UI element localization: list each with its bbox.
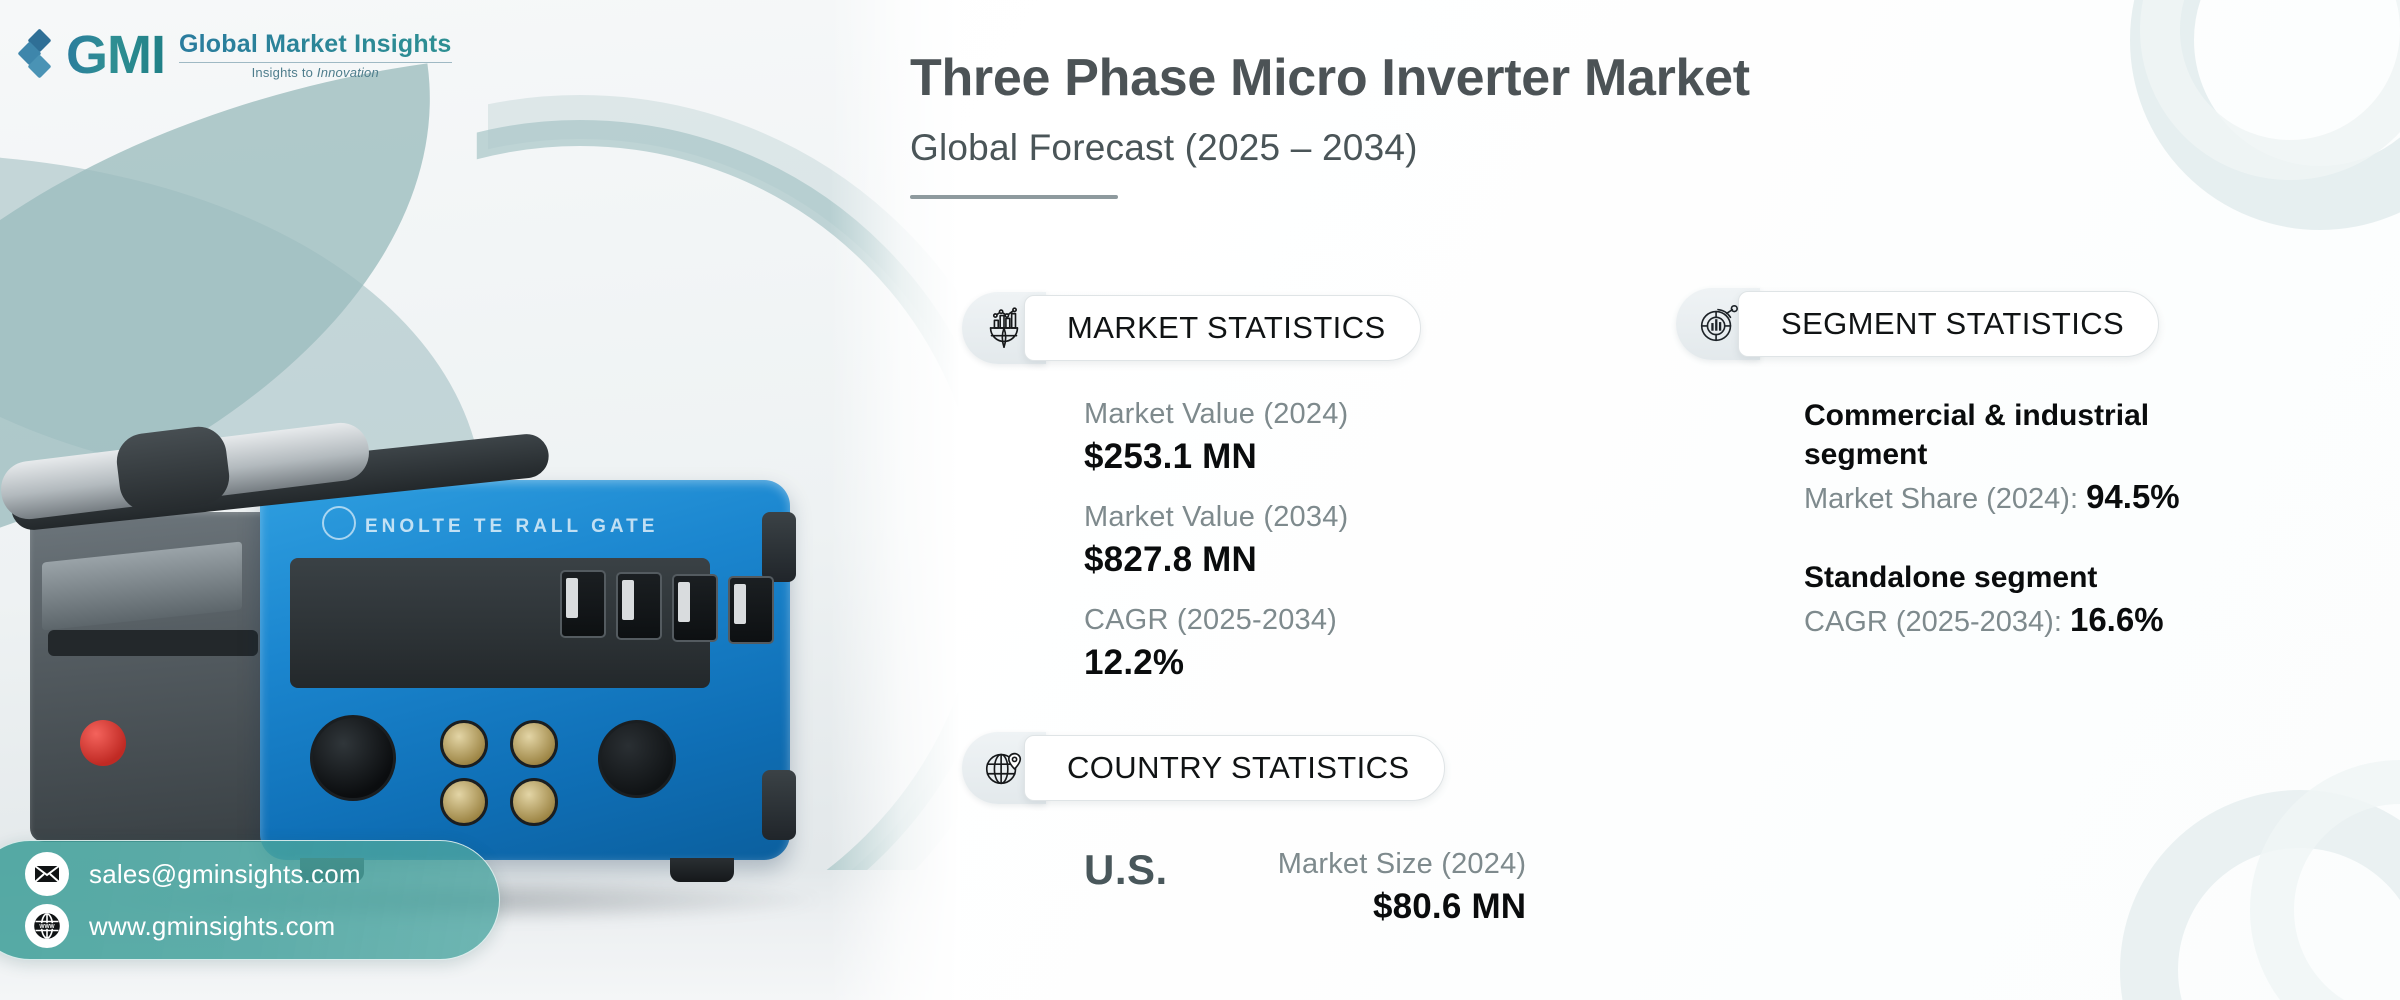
segment-1-name: Commercial & industrial segment: [1804, 396, 2234, 474]
logo-tagline: Insights to Innovation: [179, 65, 452, 80]
generator-brand-text: ENOLTE TE RALL GATE: [365, 516, 658, 538]
gmi-logo[interactable]: GMI Global Market Insights Insights to I…: [22, 28, 452, 82]
segment-2-metric: CAGR (2025-2034): 16.6%: [1804, 601, 2234, 639]
generator-brand-mark: [322, 506, 356, 540]
segment-statistics-label: SEGMENT STATISTICS: [1738, 291, 2159, 357]
market-value-2024-label: Market Value (2024): [1084, 396, 1348, 433]
segment-2-name: Standalone segment: [1804, 558, 2234, 597]
generator-terminal: [440, 720, 488, 768]
www-globe-icon: WWW: [25, 904, 69, 948]
generator-red-knob: [80, 720, 126, 766]
generator-handle-grip: [114, 424, 233, 515]
infographic-canvas: ENOLTE TE RALL GATE GMI: [0, 0, 2400, 1000]
country-statistics-body: U.S. Market Size (2024) $80.6 MN: [1084, 846, 1526, 930]
segment-2-metric-value: 16.6%: [2070, 601, 2164, 638]
generator-round-port: [310, 715, 396, 801]
generator-terminal: [510, 778, 558, 826]
generator-vent-lower: [48, 630, 258, 656]
generator-outlet: [616, 572, 662, 640]
generator-corner-guard-bottom: [762, 770, 796, 840]
market-statistics-header[interactable]: MARKET STATISTICS: [962, 292, 1421, 364]
market-value-2024-value: $253.1 MN: [1084, 435, 1348, 480]
contact-email: sales@gminsights.com: [89, 859, 361, 890]
segment-statistics-body: Commercial & industrial segment Market S…: [1804, 396, 2234, 639]
generator-corner-guard-top: [762, 512, 796, 582]
segment-2-metric-label: CAGR (2025-2034):: [1804, 606, 2070, 638]
segment-1-metric-label: Market Share (2024):: [1804, 483, 2086, 515]
contact-bar: sales@gminsights.com WWW www.gminsights.…: [0, 840, 500, 960]
generator-outlet: [560, 570, 606, 638]
logo-divider: [179, 62, 452, 63]
generator-outlet: [728, 576, 774, 644]
generator-outlet: [672, 574, 718, 642]
contact-email-row[interactable]: sales@gminsights.com: [25, 852, 499, 896]
country-market-size-value: $80.6 MN: [1373, 885, 1526, 930]
market-statistics-body: Market Value (2024) $253.1 MN Market Val…: [1084, 396, 1348, 686]
logo-wordmark: Global Market Insights Insights to Innov…: [179, 30, 452, 80]
country-statistics-label: COUNTRY STATISTICS: [1024, 735, 1445, 801]
logo-tagline-prefix: Insights to: [252, 65, 317, 80]
generator-twistlock-port: [598, 720, 676, 798]
contact-website: www.gminsights.com: [89, 911, 335, 942]
market-value-2034-value: $827.8 MN: [1084, 538, 1348, 583]
logo-diamond-icon: [22, 29, 52, 81]
logo-company-name: Global Market Insights: [179, 30, 452, 59]
market-value-2034-label: Market Value (2034): [1084, 499, 1348, 536]
envelope-icon: [25, 852, 69, 896]
segment-1-metric-value: 94.5%: [2086, 478, 2180, 515]
page-subtitle: Global Forecast (2025 – 2034): [910, 127, 1750, 169]
country-market-size-label: Market Size (2024): [1278, 846, 1527, 883]
segment-1-metric: Market Share (2024): 94.5%: [1804, 478, 2234, 516]
logo-tagline-italic: Innovation: [317, 65, 379, 80]
country-statistics-header[interactable]: COUNTRY STATISTICS: [962, 732, 1445, 804]
header: Three Phase Micro Inverter Market Global…: [910, 50, 1750, 199]
logo-initials: GMI: [66, 28, 165, 82]
title-underline: [910, 195, 1118, 199]
contact-website-row[interactable]: WWW www.gminsights.com: [25, 904, 499, 948]
generator-foot: [670, 858, 734, 882]
market-cagr-value: 12.2%: [1084, 641, 1348, 686]
segment-statistics-header[interactable]: SEGMENT STATISTICS: [1676, 288, 2159, 360]
generator-terminal: [440, 778, 488, 826]
generator-terminal: [510, 720, 558, 768]
market-cagr-label: CAGR (2025-2034): [1084, 602, 1348, 639]
page-title: Three Phase Micro Inverter Market: [910, 50, 1750, 107]
country-name: U.S.: [1084, 846, 1168, 894]
svg-text:WWW: WWW: [39, 924, 55, 930]
market-statistics-label: MARKET STATISTICS: [1024, 295, 1421, 361]
